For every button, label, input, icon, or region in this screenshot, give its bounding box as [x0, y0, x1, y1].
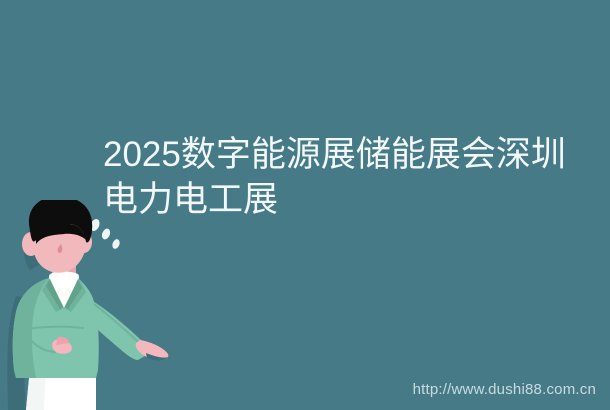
person-pointing-illustration [0, 200, 200, 410]
page-title: 2025数字能源展储能展会深圳 电力电工展 [103, 132, 573, 222]
page-title-line-1: 2025数字能源展储能展会深圳 [103, 132, 573, 177]
page-title-line-2: 电力电工展 [103, 177, 573, 222]
shirt-collar [50, 273, 78, 291]
motion-dots-icon [89, 218, 121, 250]
banner-image: 2025数字能源展储能展会深圳 电力电工展 http://www.dushi88… [0, 0, 610, 410]
jacket [13, 278, 99, 378]
watermark-url: http://www.dushi88.com.cn [413, 381, 596, 398]
